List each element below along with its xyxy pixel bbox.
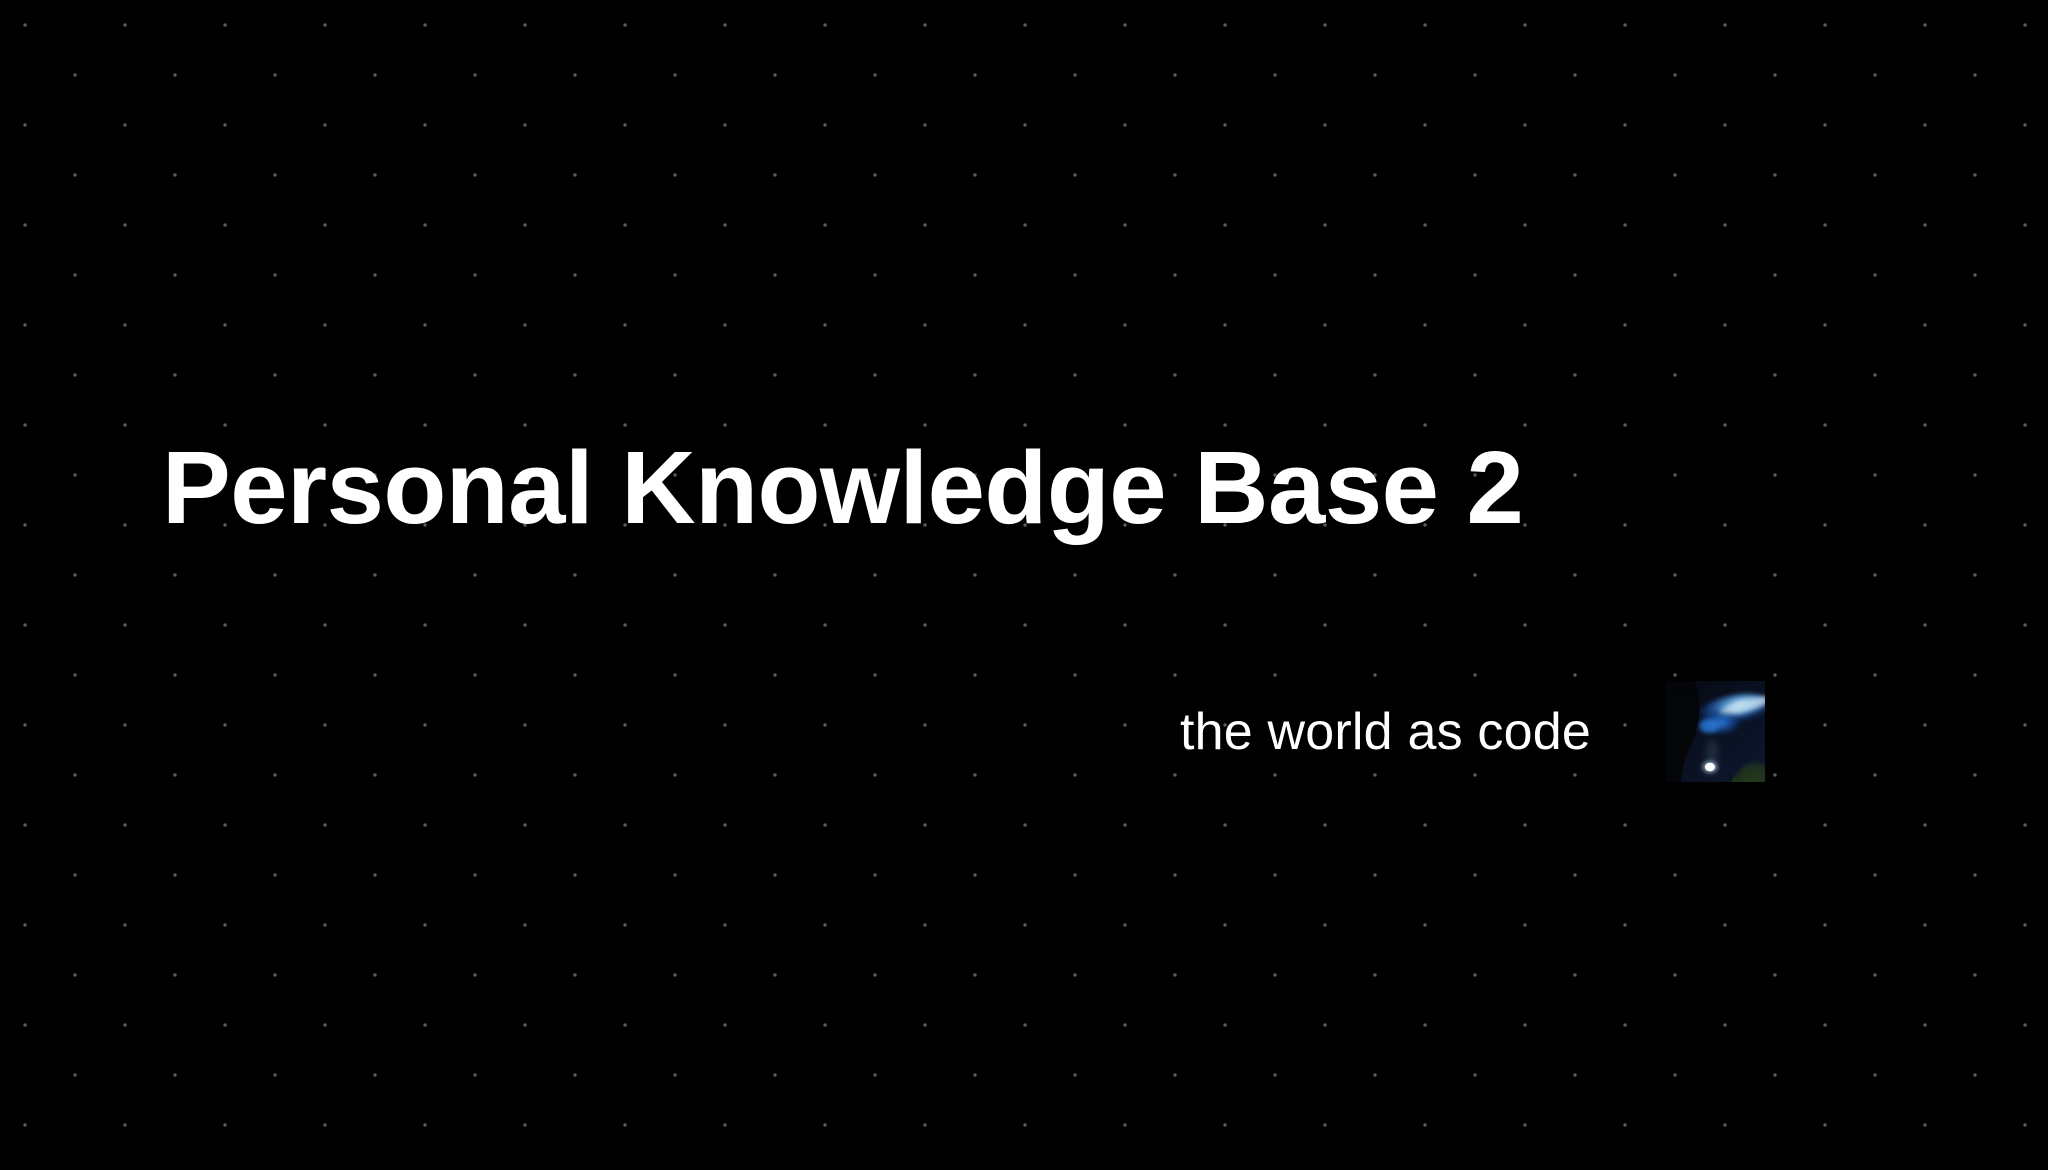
presentation-slide: Personal Knowledge Base 2 the world as c… bbox=[0, 0, 2048, 1170]
subtitle-row: the world as code bbox=[1180, 681, 1765, 782]
night-sky-illustration bbox=[1665, 681, 1765, 782]
slide-subtitle: the world as code bbox=[1180, 706, 1591, 758]
title-block: Personal Knowledge Base 2 bbox=[162, 432, 1762, 543]
page-title: Personal Knowledge Base 2 bbox=[162, 432, 1762, 543]
night-sky-thumbnail-image bbox=[1665, 681, 1765, 782]
dot-grid-background bbox=[0, 0, 2048, 1170]
